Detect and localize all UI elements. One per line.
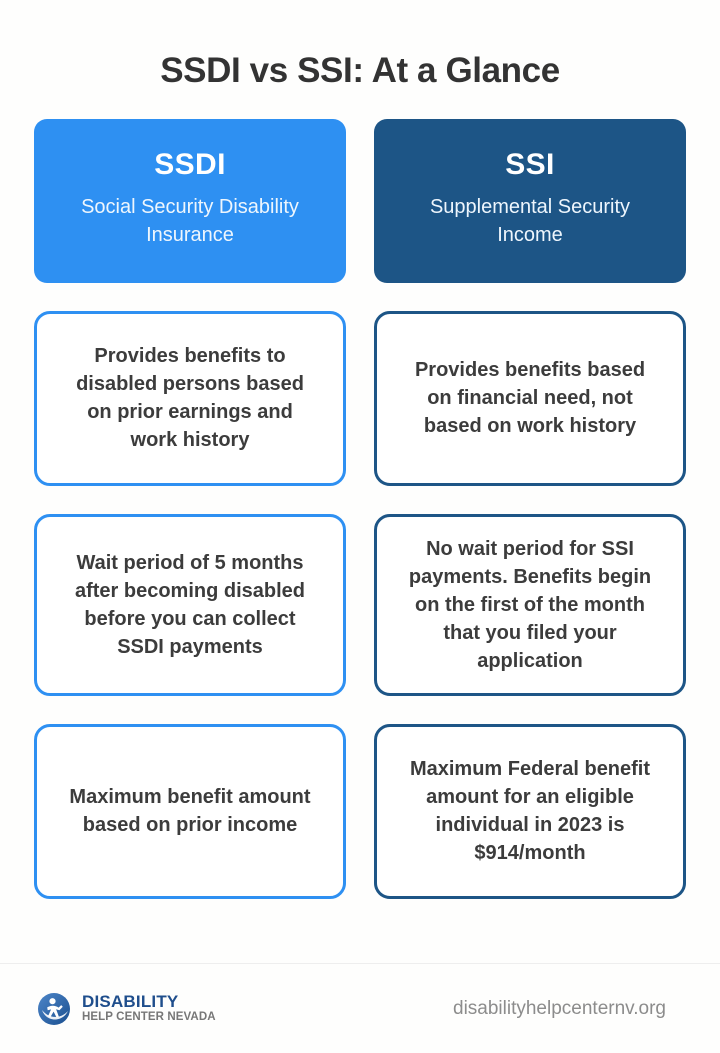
disability-help-center-swoosh-person-icon <box>34 989 74 1029</box>
brand-wordmark: DISABILITY HELP CENTER NEVADA <box>82 993 216 1024</box>
card-text: Maximum benefit amount based on prior in… <box>63 783 317 839</box>
comparison-grid: SSDI Social Security Disability Insuranc… <box>34 119 686 899</box>
card-text: No wait period for SSI payments. Benefit… <box>403 535 657 675</box>
column-header-ssdi-fullname: Social Security Disability Insurance <box>55 194 325 249</box>
column-header-ssdi: SSDI Social Security Disability Insuranc… <box>34 119 346 283</box>
card-text: Wait period of 5 months after becoming d… <box>63 549 317 661</box>
infographic-page: SSDI vs SSI: At a Glance SSDI Social Sec… <box>0 0 720 1053</box>
comparison-card-ssdi-row2: Wait period of 5 months after becoming d… <box>34 514 346 696</box>
brand-name-secondary: HELP CENTER NEVADA <box>82 1012 216 1024</box>
footer: DISABILITY HELP CENTER NEVADA disability… <box>0 964 720 1053</box>
column-header-ssdi-abbr: SSDI <box>154 148 226 181</box>
brand-logo[interactable]: DISABILITY HELP CENTER NEVADA <box>34 989 216 1029</box>
column-header-ssi: SSI Supplemental Security Income <box>374 119 686 283</box>
comparison-card-ssi-row2: No wait period for SSI payments. Benefit… <box>374 514 686 696</box>
comparison-card-ssdi-row3: Maximum benefit amount based on prior in… <box>34 724 346 899</box>
column-header-ssi-fullname: Supplemental Security Income <box>395 194 665 249</box>
column-header-ssi-abbr: SSI <box>505 148 555 181</box>
title-section: SSDI vs SSI: At a Glance <box>0 0 720 91</box>
page-title: SSDI vs SSI: At a Glance <box>0 52 720 91</box>
card-text: Provides benefits to disabled persons ba… <box>63 342 317 454</box>
comparison-card-ssi-row3: Maximum Federal benefit amount for an el… <box>374 724 686 899</box>
comparison-card-ssdi-row1: Provides benefits to disabled persons ba… <box>34 311 346 486</box>
comparison-card-ssi-row1: Provides benefits based on financial nee… <box>374 311 686 486</box>
card-text: Maximum Federal benefit amount for an el… <box>403 755 657 867</box>
website-url[interactable]: disabilityhelpcenternv.org <box>453 998 686 1020</box>
brand-name-primary: DISABILITY <box>82 993 216 1010</box>
card-text: Provides benefits based on financial nee… <box>403 356 657 440</box>
